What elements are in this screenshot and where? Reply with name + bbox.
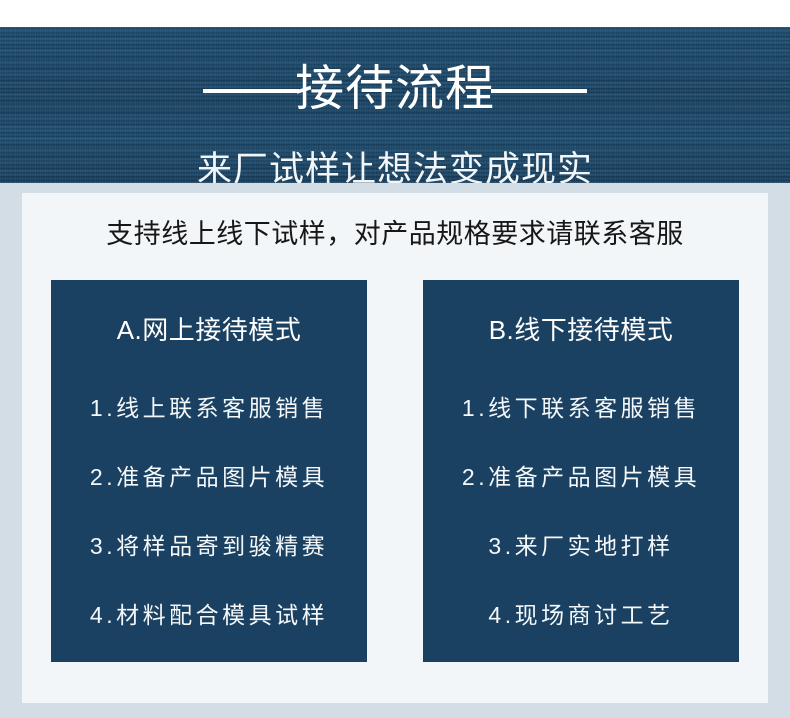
- list-item: 4.材料配合模具试样: [51, 581, 367, 650]
- card-title: A.网上接待模式: [51, 314, 367, 346]
- page-title: 接待流程: [295, 61, 495, 117]
- card-step-list: 1.线下联系客服销售 2.准备产品图片模具 3.来厂实地打样 4.现场商讨工艺: [423, 374, 739, 650]
- card-offline-mode: B.线下接待模式 1.线下联系客服销售 2.准备产品图片模具 3.来厂实地打样 …: [423, 280, 739, 662]
- card-title: B.线下接待模式: [423, 314, 739, 346]
- top-white-strip: [0, 0, 790, 27]
- header-banner: 接待流程 来厂试样让想法变成现实: [0, 27, 790, 183]
- cards-container: A.网上接待模式 1.线上联系客服销售 2.准备产品图片模具 3.将样品寄到骏精…: [51, 280, 739, 662]
- card-step-list: 1.线上联系客服销售 2.准备产品图片模具 3.将样品寄到骏精赛 4.材料配合模…: [51, 374, 367, 650]
- card-online-mode: A.网上接待模式 1.线上联系客服销售 2.准备产品图片模具 3.将样品寄到骏精…: [51, 280, 367, 662]
- rule-right-icon: [491, 89, 587, 93]
- content-panel: 支持线上线下试样，对产品规格要求请联系客服 A.网上接待模式 1.线上联系客服销…: [22, 193, 768, 703]
- panel-heading: 支持线上线下试样，对产品规格要求请联系客服: [22, 216, 768, 252]
- header-subtitle: 来厂试样让想法变成现实: [0, 149, 790, 183]
- list-item: 2.准备产品图片模具: [423, 443, 739, 512]
- list-item: 4.现场商讨工艺: [423, 581, 739, 650]
- rule-left-icon: [203, 89, 299, 93]
- header-title-row: 接待流程: [0, 63, 790, 119]
- page-root: 接待流程 来厂试样让想法变成现实 支持线上线下试样，对产品规格要求请联系客服 A…: [0, 0, 790, 718]
- list-item: 3.将样品寄到骏精赛: [51, 512, 367, 581]
- list-item: 1.线上联系客服销售: [51, 374, 367, 443]
- list-item: 3.来厂实地打样: [423, 512, 739, 581]
- list-item: 1.线下联系客服销售: [423, 374, 739, 443]
- list-item: 2.准备产品图片模具: [51, 443, 367, 512]
